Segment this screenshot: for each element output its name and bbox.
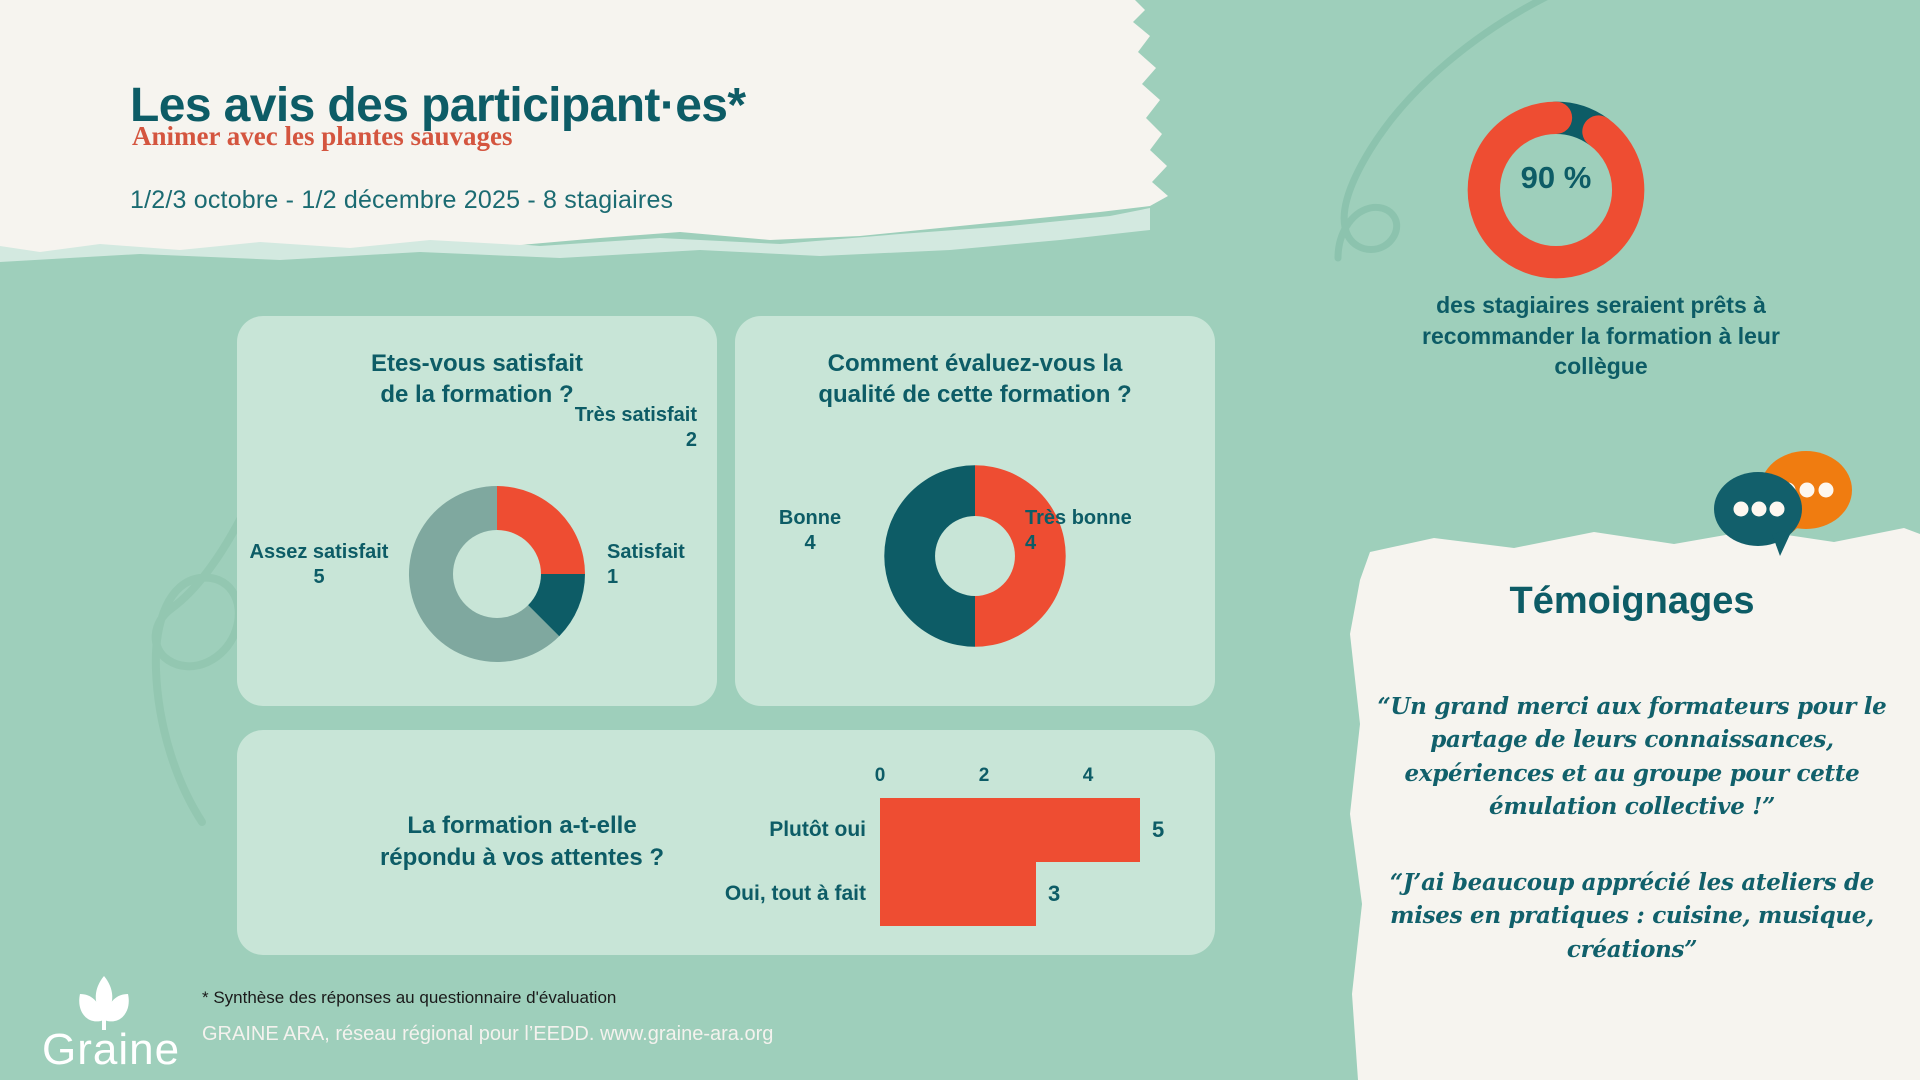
label-satisfait-name: Satisfait [607,541,685,563]
card-quality-title-line2: qualité de cette formation ? [818,381,1131,408]
card-satisfaction: Etes-vous satisfait de la formation ? Tr… [237,316,717,706]
card-expectations-title-line2: répondu à vos attentes ? [380,844,664,871]
label-tres-satisfait-value: 2 [437,428,697,453]
donut-center-hole [935,516,1015,596]
recommendation-percent-value: 90 % [1476,160,1636,196]
organization-line: GRAINE ARA, réseau régional pour l’EEDD.… [202,1023,773,1046]
bar-value-plutot-oui: 5 [1152,817,1164,843]
speech-bubbles-icon [1706,446,1866,556]
bar-label-plutot-oui: Plutôt oui [769,818,866,842]
testimonials-title: Témoignages [1344,580,1920,623]
label-satisfait: Satisfait 1 [607,540,685,590]
bar-row-plutot-oui: Plutôt oui 5 [880,798,1180,862]
bar-chart-axis: 0 2 4 [880,765,1140,789]
bar-rect-oui-tout-a-fait [880,862,1036,926]
card-satisfaction-title: Etes-vous satisfait de la formation ? [237,349,717,410]
label-satisfait-value: 1 [607,565,685,590]
quality-donut-chart [867,448,1083,664]
page-subtitle: Animer avec les plantes sauvages [132,121,512,152]
testimonial-quote-1: “Un grand merci aux formateurs pour le p… [1372,690,1892,823]
card-expectations-title: La formation a-t-elle répondu à vos atte… [297,810,747,875]
bar-row-oui-tout-a-fait: Oui, tout à fait 3 [880,862,1180,926]
card-expectations-title-line1: La formation a-t-elle [407,812,636,839]
card-quality-title: Comment évaluez-vous la qualité de cette… [735,349,1215,410]
label-assez-satisfait-name: Assez satisfait [250,541,389,563]
testimonial-quote-2: “J’ai beaucoup apprécié les ateliers de … [1372,866,1892,966]
bar-value-oui-tout-a-fait: 3 [1048,881,1060,907]
label-tres-bonne-name: Très bonne [1025,507,1132,529]
speech-bubble-teal-icon [1714,472,1802,556]
recommendation-caption-line3: collègue [1554,353,1647,379]
bar-label-oui-tout-a-fait: Oui, tout à fait [725,882,866,906]
label-tres-satisfait-name: Très satisfait [575,404,697,426]
satisfaction-donut-chart [387,464,607,684]
page-dateline: 1/2/3 octobre - 1/2 décembre 2025 - 8 st… [130,186,673,215]
label-tres-bonne: Très bonne 4 [1025,506,1132,556]
card-quality-title-line1: Comment évaluez-vous la [828,350,1123,377]
label-tres-bonne-value: 4 [1025,531,1132,556]
graine-logo: Graine [40,968,180,1073]
label-bonne-name: Bonne [779,507,841,529]
recommendation-caption-line2: recommander la formation à leur [1422,323,1780,349]
label-bonne-value: 4 [755,531,865,556]
card-satisfaction-title-line1: Etes-vous satisfait [371,350,583,377]
recommendation-caption: des stagiaires seraient prêts à recomman… [1386,290,1816,382]
graine-logo-wordmark: Graine [42,1025,180,1073]
recommendation-caption-line1: des stagiaires seraient prêts à [1436,292,1766,318]
label-tres-satisfait: Très satisfait 2 [437,403,697,453]
label-assez-satisfait-value: 5 [229,565,409,590]
bar-tick-0: 0 [875,765,886,787]
card-quality: Comment évaluez-vous la qualité de cette… [735,316,1215,706]
donut-center-hole [453,530,541,618]
bar-tick-4: 4 [1083,765,1094,787]
infographic-canvas: Les avis des participant·es* Animer avec… [0,0,1920,1080]
bar-tick-2: 2 [979,765,990,787]
footnote-text: * Synthèse des réponses au questionnaire… [202,988,616,1008]
bar-rect-plutot-oui [880,798,1140,862]
label-assez-satisfait: Assez satisfait 5 [229,540,409,590]
label-bonne: Bonne 4 [755,506,865,556]
